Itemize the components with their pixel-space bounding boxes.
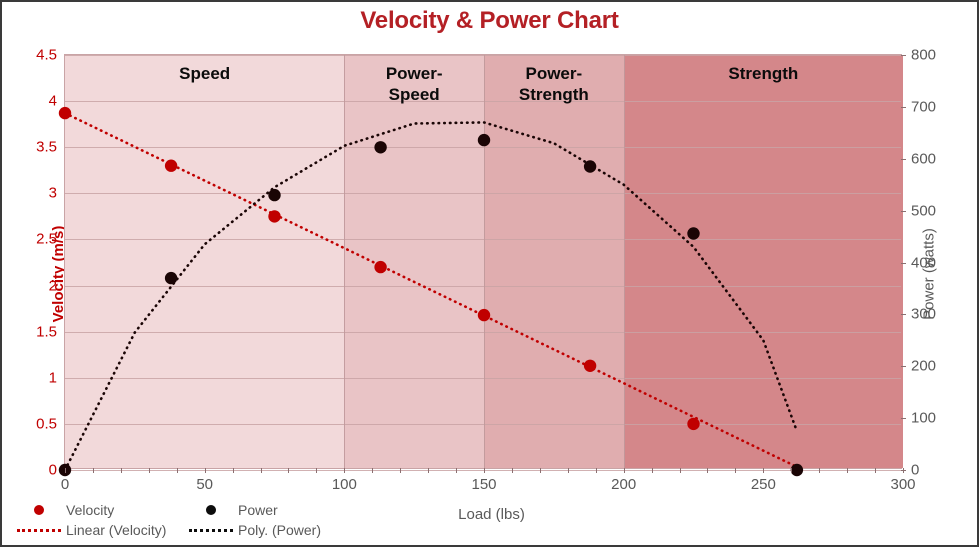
- x-axis-tick-mark: [149, 468, 150, 473]
- x-axis-tick-mark: [791, 468, 792, 473]
- x-axis-tick-mark: [624, 468, 625, 473]
- x-axis-tick-mark: [93, 468, 94, 473]
- y-axis-left-tick-label: 2: [49, 277, 57, 294]
- x-axis-tick-mark: [121, 468, 122, 473]
- y-axis-left-tick-label: 1.5: [36, 323, 57, 340]
- y-axis-left-tick-label: 4: [49, 93, 57, 110]
- y-axis-right-tick-mark: [901, 55, 906, 56]
- legend-row-markers: Velocity Power: [12, 500, 432, 520]
- x-axis-tick-mark: [875, 468, 876, 473]
- x-axis-tick-label: 300: [890, 476, 915, 493]
- legend-item-power[interactable]: Power: [184, 500, 278, 520]
- x-axis-tick-mark: [735, 468, 736, 473]
- x-axis-tick-mark: [65, 468, 66, 473]
- y-axis-left-tick-label: 0.5: [36, 415, 57, 432]
- x-axis-tick-mark: [344, 468, 345, 473]
- x-axis-tick-mark: [707, 468, 708, 473]
- x-axis-tick-mark: [596, 468, 597, 473]
- y-axis-right-tick-mark: [901, 366, 906, 367]
- x-axis-tick-label: 150: [471, 476, 496, 493]
- y-axis-left-tick-label: 3: [49, 185, 57, 202]
- x-axis-tick-mark: [400, 468, 401, 473]
- y-axis-right-tick-mark: [901, 211, 906, 212]
- power-marker-icon: [184, 505, 238, 515]
- y-axis-left-tick-label: 1: [49, 369, 57, 386]
- y-axis-left-tick-label: 3.5: [36, 139, 57, 156]
- x-axis-tick-mark: [316, 468, 317, 473]
- x-axis-tick-mark: [763, 468, 764, 473]
- chart-title: Velocity & Power Chart: [2, 4, 977, 38]
- y-axis-right-tick-mark: [901, 263, 906, 264]
- x-axis-tick-mark: [428, 468, 429, 473]
- data-point-velocity[interactable]: [268, 210, 280, 222]
- chart-legend: Velocity Power Linear (Velocity) Poly: [12, 500, 432, 540]
- y-axis-right-tick-label: 300: [911, 306, 936, 323]
- data-point-power[interactable]: [791, 464, 803, 476]
- x-axis-tick-mark: [819, 468, 820, 473]
- data-point-power[interactable]: [268, 189, 280, 201]
- y-axis-right-tick-mark: [901, 314, 906, 315]
- data-point-power[interactable]: [478, 134, 490, 146]
- data-point-velocity[interactable]: [584, 360, 596, 372]
- y-axis-left-tick-label: 4.5: [36, 47, 57, 64]
- y-axis-right-tick-label: 400: [911, 254, 936, 271]
- y-axis-right-tick-label: 100: [911, 410, 936, 427]
- x-axis-tick-mark: [484, 468, 485, 473]
- legend-row-trendlines: Linear (Velocity) Poly. (Power): [12, 520, 432, 540]
- x-axis-tick-mark: [568, 468, 569, 473]
- data-point-velocity[interactable]: [165, 160, 177, 172]
- y-axis-left-tick-label: 2.5: [36, 231, 57, 248]
- x-axis-tick-label: 50: [196, 476, 213, 493]
- data-point-velocity[interactable]: [59, 107, 71, 119]
- x-axis-tick-mark: [540, 468, 541, 473]
- y-axis-left-tick-label: 0: [49, 462, 57, 479]
- x-axis-tick-mark: [177, 468, 178, 473]
- legend-label-power: Power: [238, 502, 278, 518]
- data-point-velocity[interactable]: [478, 309, 490, 321]
- x-axis-tick-mark: [372, 468, 373, 473]
- velocity-marker-icon: [12, 505, 66, 515]
- legend-item-velocity[interactable]: Velocity: [12, 500, 184, 520]
- legend-label-poly-power: Poly. (Power): [238, 522, 321, 538]
- data-point-power[interactable]: [374, 141, 386, 153]
- x-axis-tick-mark: [456, 468, 457, 473]
- plot-area: SpeedPower-SpeedPower-StrengthStrength 0…: [64, 54, 902, 469]
- y-axis-right-tick-label: 800: [911, 47, 936, 64]
- legend-label-velocity: Velocity: [66, 502, 114, 518]
- x-axis-tick-mark: [903, 468, 904, 473]
- y-axis-right-tick-mark: [901, 418, 906, 419]
- dotted-line-black-icon: [184, 529, 238, 532]
- chart-container: Velocity & Power Chart Velocity (m/s) Po…: [0, 0, 979, 547]
- y-axis-right-tick-mark: [901, 107, 906, 108]
- y-axis-right-tick-label: 700: [911, 98, 936, 115]
- x-axis-tick-mark: [233, 468, 234, 473]
- y-axis-right-tick-label: 200: [911, 358, 936, 375]
- x-axis-tick-mark: [847, 468, 848, 473]
- x-axis-tick-label: 100: [332, 476, 357, 493]
- x-axis-tick-mark: [205, 468, 206, 473]
- data-point-power[interactable]: [584, 160, 596, 172]
- x-axis-tick-mark: [288, 468, 289, 473]
- x-axis-tick-label: 0: [61, 476, 69, 493]
- data-point-power[interactable]: [165, 272, 177, 284]
- dotted-line-red-icon: [12, 529, 66, 532]
- trendline-poly-power-: [65, 122, 797, 470]
- x-axis-tick-label: 200: [611, 476, 636, 493]
- data-point-velocity[interactable]: [687, 418, 699, 430]
- x-axis-tick-mark: [652, 468, 653, 473]
- gridline: [65, 470, 901, 471]
- y-axis-right-tick-label: 600: [911, 150, 936, 167]
- y-axis-right-tick-label: 500: [911, 202, 936, 219]
- x-axis-tick-mark: [680, 468, 681, 473]
- legend-item-linear-velocity[interactable]: Linear (Velocity): [12, 520, 184, 540]
- y-axis-right-tick-mark: [901, 159, 906, 160]
- data-point-velocity[interactable]: [374, 261, 386, 273]
- x-axis-tick-mark: [512, 468, 513, 473]
- data-point-power[interactable]: [687, 227, 699, 239]
- x-axis-tick-label: 250: [751, 476, 776, 493]
- data-series-layer: [65, 55, 903, 470]
- x-axis-tick-mark: [261, 468, 262, 473]
- legend-label-linear-velocity: Linear (Velocity): [66, 522, 166, 538]
- legend-item-poly-power[interactable]: Poly. (Power): [184, 520, 321, 540]
